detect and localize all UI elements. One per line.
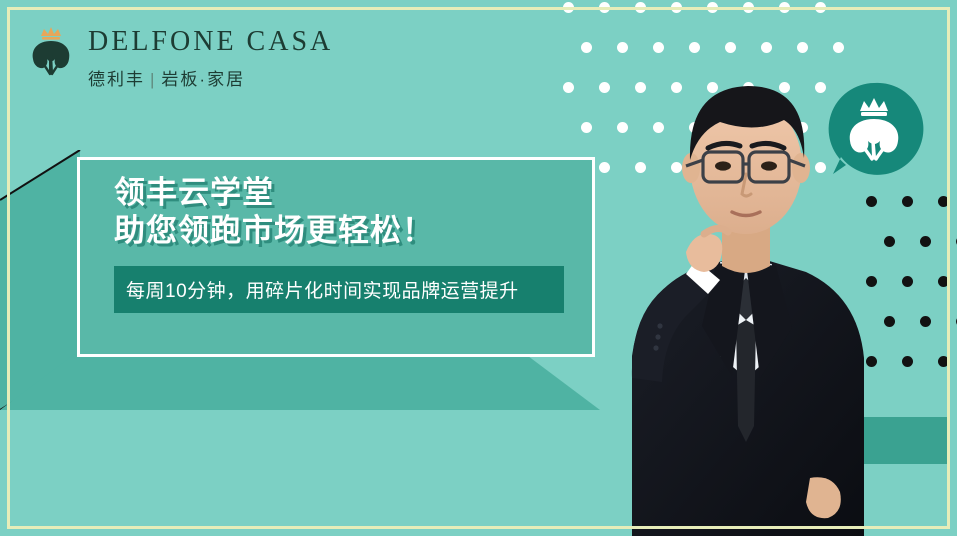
brand-wordmark: DELFONE CASA bbox=[88, 28, 333, 56]
brand-chinese-line: 德利丰|岩板·家居 bbox=[88, 65, 333, 90]
decor-dot bbox=[920, 316, 931, 327]
headline-card: 领丰云学堂 助您领跑市场更轻松！ 每周10分钟，用碎片化时间实现品牌运营提升 bbox=[77, 157, 595, 357]
decor-dot bbox=[902, 276, 913, 287]
brand-logo: DELFONE CASA 德利丰|岩板·家居 bbox=[22, 22, 333, 90]
elephant-crown-logo-icon bbox=[22, 22, 80, 80]
brand-chinese-name: 德利丰 bbox=[88, 70, 145, 89]
decor-dot bbox=[599, 2, 610, 13]
headline-text: 领丰云学堂 助您领跑市场更轻松！ bbox=[114, 174, 434, 250]
decor-dot bbox=[938, 356, 949, 367]
headline-line-1: 领丰云学堂 bbox=[114, 175, 274, 210]
decor-dot bbox=[743, 2, 754, 13]
brand-chinese-category: 岩板·家居 bbox=[161, 70, 245, 89]
decor-dot bbox=[938, 276, 949, 287]
decor-dot bbox=[581, 42, 592, 53]
decor-dot bbox=[779, 2, 790, 13]
decor-dot bbox=[815, 2, 826, 13]
logo-text-block: DELFONE CASA 德利丰|岩板·家居 bbox=[88, 22, 333, 90]
decor-dot bbox=[563, 82, 574, 93]
decor-dot bbox=[938, 196, 949, 207]
brand-separator: | bbox=[150, 70, 156, 89]
decor-dot bbox=[581, 122, 592, 133]
decor-dot bbox=[707, 2, 718, 13]
decor-dot bbox=[902, 196, 913, 207]
decor-dot bbox=[902, 356, 913, 367]
headline-line-2: 助您领跑市场更轻松！ bbox=[114, 212, 434, 250]
subtitle-band: 每周10分钟，用碎片化时间实现品牌运营提升 bbox=[114, 266, 564, 313]
decor-dot bbox=[920, 236, 931, 247]
chat-bubble-elephant-badge bbox=[824, 79, 924, 179]
decor-dot bbox=[563, 2, 574, 13]
promo-banner: 领丰云学堂 助您领跑市场更轻松！ 每周10分钟，用碎片化时间实现品牌运营提升 bbox=[0, 0, 957, 536]
decor-dot bbox=[635, 2, 646, 13]
subtitle-text: 每周10分钟，用碎片化时间实现品牌运营提升 bbox=[114, 276, 519, 303]
decor-dot bbox=[671, 2, 682, 13]
